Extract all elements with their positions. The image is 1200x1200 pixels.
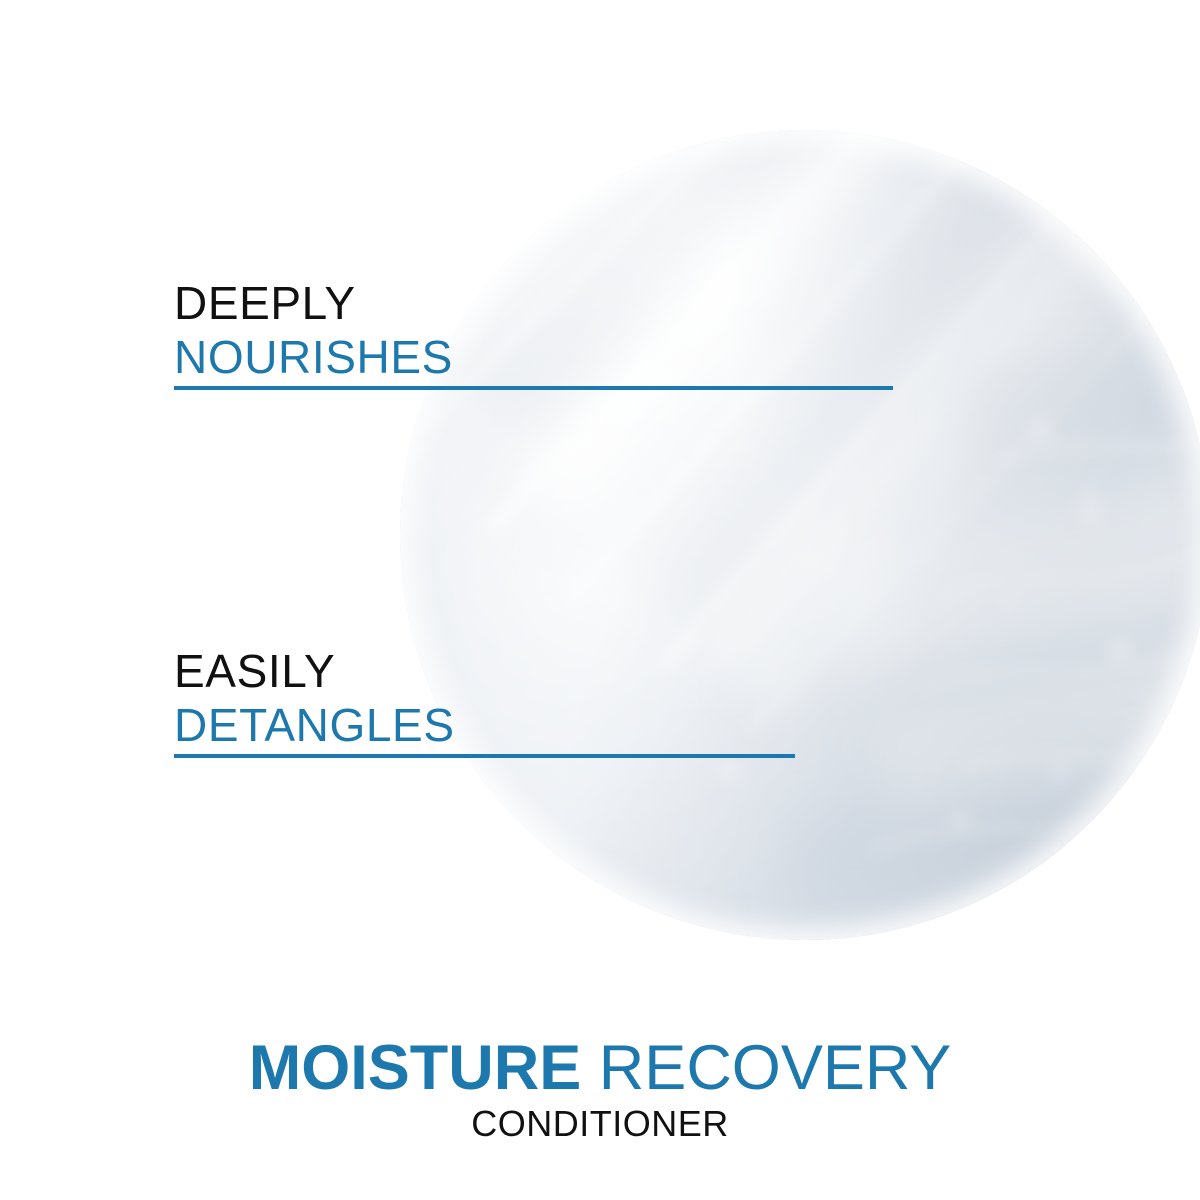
product-title: MOISTURE RECOVERY [0,1032,1200,1104]
product-subtitle: CONDITIONER [0,1103,1200,1145]
cream-texture-image [400,130,1200,940]
benefit-2-line-1: EASILY [174,644,455,698]
benefit-callout-easily-detangles: EASILY DETANGLES [174,644,455,752]
benefit-2-line-2: DETANGLES [174,698,455,752]
benefit-1-line-1: DEEPLY [174,276,453,330]
product-title-spacer [581,1033,599,1103]
benefit-callout-deeply-nourishes: DEEPLY NOURISHES [174,276,453,384]
product-title-light: RECOVERY [599,1033,951,1103]
benefit-1-underline [174,386,893,390]
benefit-2-underline [174,754,795,758]
benefit-1-line-2: NOURISHES [174,330,453,384]
product-title-strong: MOISTURE [249,1033,582,1103]
product-feature-card: DEEPLY NOURISHES EASILY DETANGLES MOISTU… [0,0,1200,1200]
product-texture-swatch [400,130,1200,940]
